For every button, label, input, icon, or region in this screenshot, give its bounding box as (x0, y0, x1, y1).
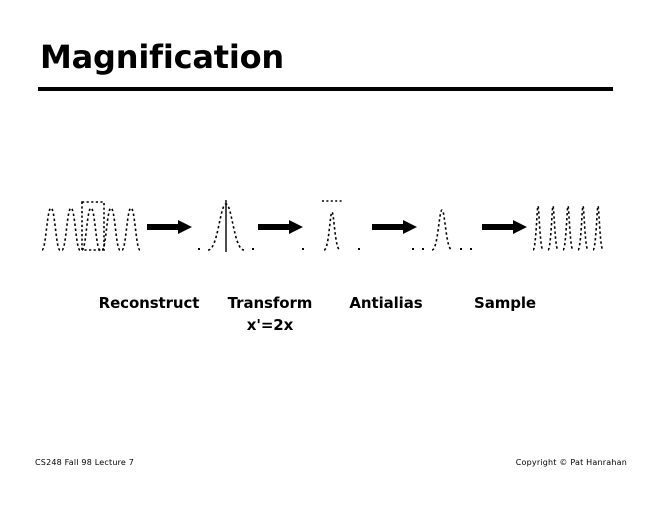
diagram-panel-single-kernel (196, 198, 258, 252)
single-kernel-plot (196, 198, 258, 252)
caption-antialias-label: Antialias (349, 294, 422, 312)
page-title: Magnification (40, 40, 284, 75)
diagram-panel-transformed-kernel (300, 190, 362, 252)
diagram-panel-reconstructed-signal (40, 200, 146, 252)
arrow-icon-4 (482, 220, 527, 234)
spike-2 (548, 206, 558, 250)
arrow-icon-2 (258, 220, 303, 234)
reconstructed-signal-plot (40, 200, 146, 252)
spike-3 (563, 206, 573, 250)
pipeline-diagram (0, 190, 660, 270)
diagram-panel-resampled-signal (532, 202, 614, 252)
diagram-panel-antialiased-kernel (408, 198, 474, 252)
caption-transform: Transform x'=2x (218, 294, 322, 334)
footer-lecture-info: CS248 Fall 98 Lecture 7 (35, 458, 134, 467)
caption-sample: Sample (468, 294, 542, 312)
resampled-signal-plot (532, 202, 614, 252)
antialiased-kernel-plot (408, 198, 474, 252)
caption-transform-formula: x'=2x (218, 316, 322, 334)
arrow-icon-1 (147, 220, 192, 234)
caption-sample-label: Sample (474, 294, 536, 312)
kernel-main (324, 212, 340, 250)
hump-5 (122, 208, 140, 250)
kernel-side-lobes (412, 248, 472, 250)
spike-5 (593, 206, 603, 250)
transformed-kernel-plot (300, 190, 362, 252)
hump-3 (82, 208, 100, 250)
caption-transform-label: Transform (228, 294, 313, 312)
kernel-side-lobes (302, 248, 360, 250)
kernel-main (432, 210, 452, 250)
spike-1 (533, 206, 543, 250)
spike-4 (578, 206, 588, 250)
footer-copyright: Copyright © Pat Hanrahan (516, 458, 627, 467)
selection-box (82, 202, 104, 250)
slide-canvas: Magnification (0, 0, 660, 510)
caption-reconstruct: Reconstruct (96, 294, 202, 312)
title-underline-rule (38, 87, 613, 91)
hump-2 (62, 208, 80, 250)
hump-1 (42, 208, 60, 250)
caption-reconstruct-label: Reconstruct (99, 294, 200, 312)
caption-antialias: Antialias (344, 294, 428, 312)
